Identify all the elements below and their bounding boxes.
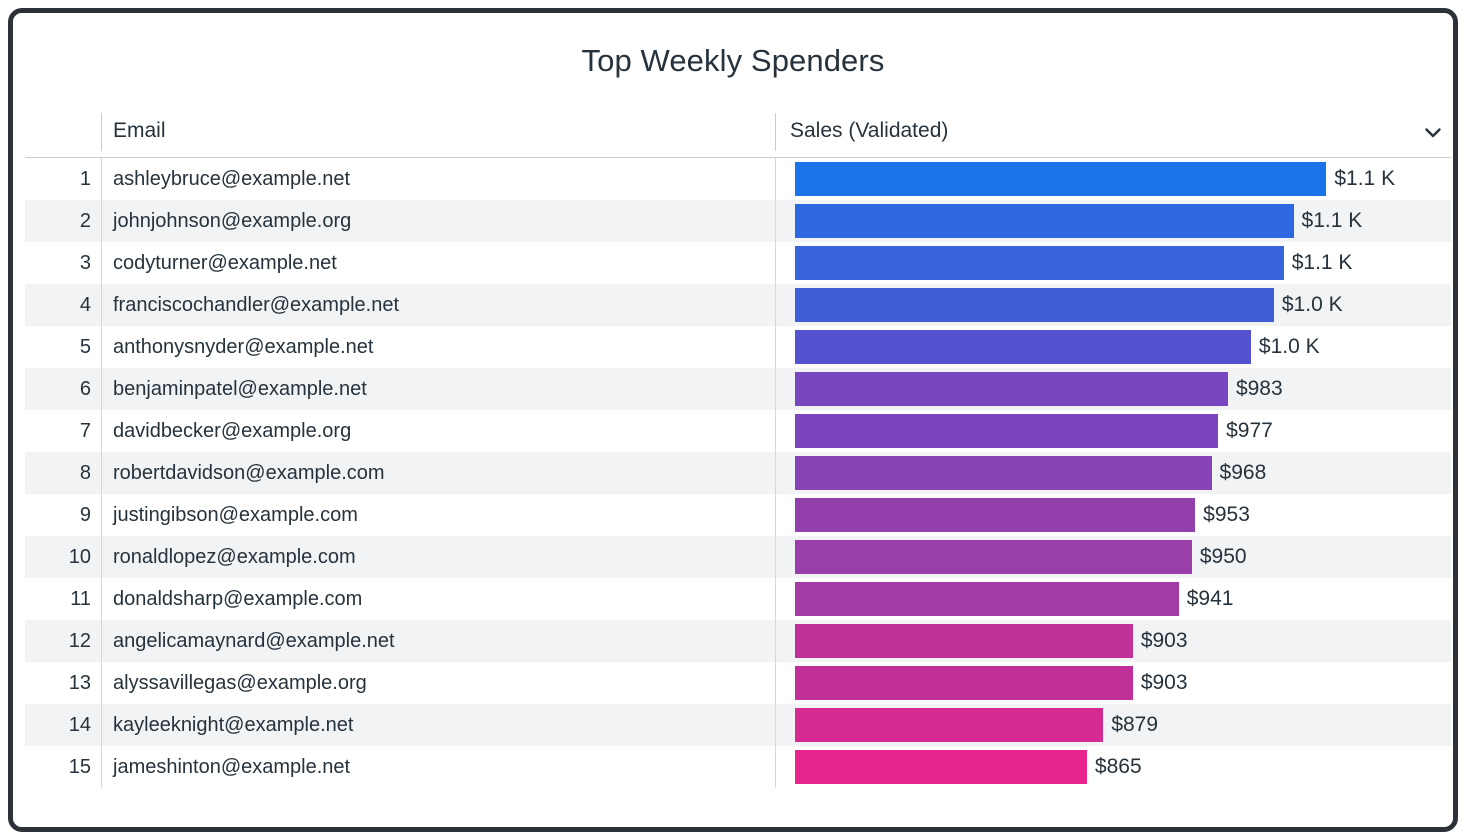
bar-cell: $903 [795, 662, 1451, 704]
sales-bar [795, 708, 1103, 742]
bar-cell: $879 [795, 704, 1451, 746]
row-divider-left [101, 746, 102, 788]
row-index: 5 [25, 326, 91, 368]
sales-bar [795, 162, 1326, 196]
spenders-table: Email Sales (Validated) 1ashleybruce@exa… [25, 105, 1451, 788]
bar-cell: $953 [795, 494, 1451, 536]
row-divider-left [101, 200, 102, 242]
table-row[interactable]: 11donaldsharp@example.com$941 [25, 578, 1451, 620]
row-divider-left [101, 326, 102, 368]
bar-cell: $950 [795, 536, 1451, 578]
bar-value-label: $1.0 K [1282, 284, 1343, 326]
bar-cell: $1.1 K [795, 242, 1451, 284]
row-email: johnjohnson@example.org [113, 200, 351, 242]
row-divider-right [775, 578, 776, 620]
window-frame: Top Weekly Spenders Email Sales (Validat… [8, 8, 1458, 832]
table-row[interactable]: 15jameshinton@example.net$865 [25, 746, 1451, 788]
sales-bar [795, 246, 1284, 280]
row-email: angelicamaynard@example.net [113, 620, 395, 662]
header-divider-left [101, 113, 102, 151]
row-index: 8 [25, 452, 91, 494]
row-divider-right [775, 326, 776, 368]
table-row[interactable]: 9justingibson@example.com$953 [25, 494, 1451, 536]
bar-value-label: $1.0 K [1259, 326, 1320, 368]
bar-value-label: $1.1 K [1334, 158, 1395, 200]
bar-cell: $865 [795, 746, 1451, 788]
row-divider-left [101, 536, 102, 578]
row-divider-left [101, 494, 102, 536]
row-email: donaldsharp@example.com [113, 578, 362, 620]
row-divider-right [775, 662, 776, 704]
sales-bar [795, 582, 1179, 616]
table-row[interactable]: 13alyssavillegas@example.org$903 [25, 662, 1451, 704]
bar-cell: $1.1 K [795, 158, 1451, 200]
column-header-email[interactable]: Email [113, 119, 166, 143]
table-row[interactable]: 8robertdavidson@example.com$968 [25, 452, 1451, 494]
row-divider-right [775, 536, 776, 578]
row-index: 2 [25, 200, 91, 242]
row-divider-left [101, 662, 102, 704]
row-index: 12 [25, 620, 91, 662]
bar-value-label: $865 [1095, 746, 1142, 788]
bar-cell: $1.0 K [795, 326, 1451, 368]
bar-cell: $941 [795, 578, 1451, 620]
sales-bar [795, 456, 1212, 490]
row-email: robertdavidson@example.com [113, 452, 385, 494]
row-index: 14 [25, 704, 91, 746]
table-row[interactable]: 6benjaminpatel@example.net$983 [25, 368, 1451, 410]
bar-value-label: $983 [1236, 368, 1283, 410]
row-index: 1 [25, 158, 91, 200]
row-email: franciscochandler@example.net [113, 284, 399, 326]
bar-cell: $983 [795, 368, 1451, 410]
row-divider-left [101, 242, 102, 284]
table-row[interactable]: 14kayleeknight@example.net$879 [25, 704, 1451, 746]
row-email: ronaldlopez@example.com [113, 536, 356, 578]
bar-value-label: $1.1 K [1292, 242, 1353, 284]
row-index: 6 [25, 368, 91, 410]
chevron-down-icon[interactable] [1422, 122, 1444, 144]
row-divider-left [101, 284, 102, 326]
row-divider-right [775, 158, 776, 200]
bar-value-label: $903 [1141, 620, 1188, 662]
header-divider-right [775, 113, 776, 151]
row-email: ashleybruce@example.net [113, 158, 350, 200]
row-email: jameshinton@example.net [113, 746, 350, 788]
table-header-row: Email Sales (Validated) [25, 105, 1451, 158]
table-row[interactable]: 7davidbecker@example.org$977 [25, 410, 1451, 452]
row-index: 7 [25, 410, 91, 452]
bar-value-label: $1.1 K [1302, 200, 1363, 242]
sales-bar [795, 540, 1192, 574]
row-index: 15 [25, 746, 91, 788]
sales-bar [795, 498, 1195, 532]
row-divider-left [101, 620, 102, 662]
sales-bar [795, 288, 1274, 322]
row-index: 10 [25, 536, 91, 578]
row-email: anthonysnyder@example.net [113, 326, 373, 368]
bar-cell: $1.1 K [795, 200, 1451, 242]
row-divider-right [775, 200, 776, 242]
bar-value-label: $903 [1141, 662, 1188, 704]
row-divider-right [775, 368, 776, 410]
row-divider-left [101, 704, 102, 746]
row-index: 3 [25, 242, 91, 284]
bar-cell: $903 [795, 620, 1451, 662]
chart-card: Top Weekly Spenders Email Sales (Validat… [13, 13, 1453, 827]
row-divider-right [775, 494, 776, 536]
bar-value-label: $977 [1226, 410, 1273, 452]
sales-bar [795, 204, 1294, 238]
bar-value-label: $879 [1111, 704, 1158, 746]
row-divider-left [101, 452, 102, 494]
sales-bar [795, 330, 1251, 364]
sales-bar [795, 666, 1133, 700]
row-email: kayleeknight@example.net [113, 704, 353, 746]
row-divider-right [775, 620, 776, 662]
row-index: 13 [25, 662, 91, 704]
row-divider-right [775, 704, 776, 746]
row-divider-right [775, 284, 776, 326]
row-divider-right [775, 242, 776, 284]
row-index: 4 [25, 284, 91, 326]
bar-cell: $977 [795, 410, 1451, 452]
bar-value-label: $950 [1200, 536, 1247, 578]
row-email: alyssavillegas@example.org [113, 662, 367, 704]
table-body: 1ashleybruce@example.net$1.1 K2johnjohns… [25, 158, 1451, 788]
bar-cell: $968 [795, 452, 1451, 494]
row-email: justingibson@example.com [113, 494, 358, 536]
sales-bar [795, 750, 1087, 784]
row-divider-left [101, 368, 102, 410]
row-divider-left [101, 578, 102, 620]
bar-cell: $1.0 K [795, 284, 1451, 326]
row-email: davidbecker@example.org [113, 410, 351, 452]
bar-value-label: $941 [1187, 578, 1234, 620]
bar-value-label: $953 [1203, 494, 1250, 536]
row-divider-left [101, 158, 102, 200]
table-row[interactable]: 5anthonysnyder@example.net$1.0 K [25, 326, 1451, 368]
sales-bar [795, 372, 1228, 406]
page-title: Top Weekly Spenders [13, 43, 1453, 79]
sales-bar [795, 624, 1133, 658]
bar-value-label: $968 [1220, 452, 1267, 494]
table-row[interactable]: 12angelicamaynard@example.net$903 [25, 620, 1451, 662]
row-index: 11 [25, 578, 91, 620]
row-email: benjaminpatel@example.net [113, 368, 367, 410]
row-email: codyturner@example.net [113, 242, 337, 284]
table-row[interactable]: 1ashleybruce@example.net$1.1 K [25, 158, 1451, 200]
row-divider-left [101, 410, 102, 452]
row-divider-right [775, 410, 776, 452]
table-row[interactable]: 2johnjohnson@example.org$1.1 K [25, 200, 1451, 242]
column-header-sales[interactable]: Sales (Validated) [790, 119, 948, 143]
table-row[interactable]: 10ronaldlopez@example.com$950 [25, 536, 1451, 578]
sales-bar [795, 414, 1218, 448]
row-divider-right [775, 746, 776, 788]
table-row[interactable]: 4franciscochandler@example.net$1.0 K [25, 284, 1451, 326]
table-row[interactable]: 3codyturner@example.net$1.1 K [25, 242, 1451, 284]
row-divider-right [775, 452, 776, 494]
row-index: 9 [25, 494, 91, 536]
